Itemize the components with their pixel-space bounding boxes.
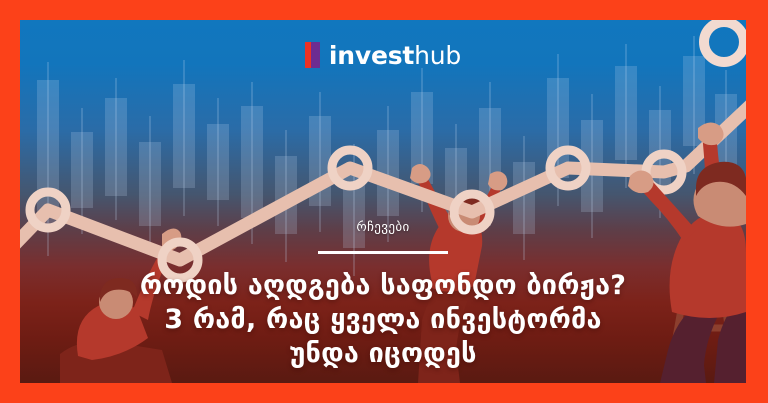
brand-wordmark: investhub (329, 43, 461, 68)
headline-line-1: როდის აღდგება საფონდო ბირჟა? (44, 269, 722, 303)
mark-stripe-purple (311, 42, 320, 68)
wordmark-invest: invest (329, 41, 414, 70)
artwork-stage: investhub რჩევები როდის აღდგება საფონდო … (20, 20, 746, 383)
category-label: რჩევები (20, 220, 746, 236)
brand-logo[interactable]: investhub (20, 42, 746, 68)
headline-line-2: 3 რამ, რაც ყველა ინვესტორმა (44, 303, 722, 337)
headline-line-3: უნდა იცოდეს (44, 337, 722, 371)
investhub-mark-icon (305, 42, 320, 68)
category-text: რჩევები (20, 220, 746, 236)
poster-canvas: investhub რჩევები როდის აღდგება საფონდო … (0, 0, 768, 403)
wordmark-hub: hub (414, 41, 461, 70)
title-divider (318, 251, 448, 254)
page-title: როდის აღდგება საფონდო ბირჟა? 3 რამ, რაც … (20, 269, 746, 371)
